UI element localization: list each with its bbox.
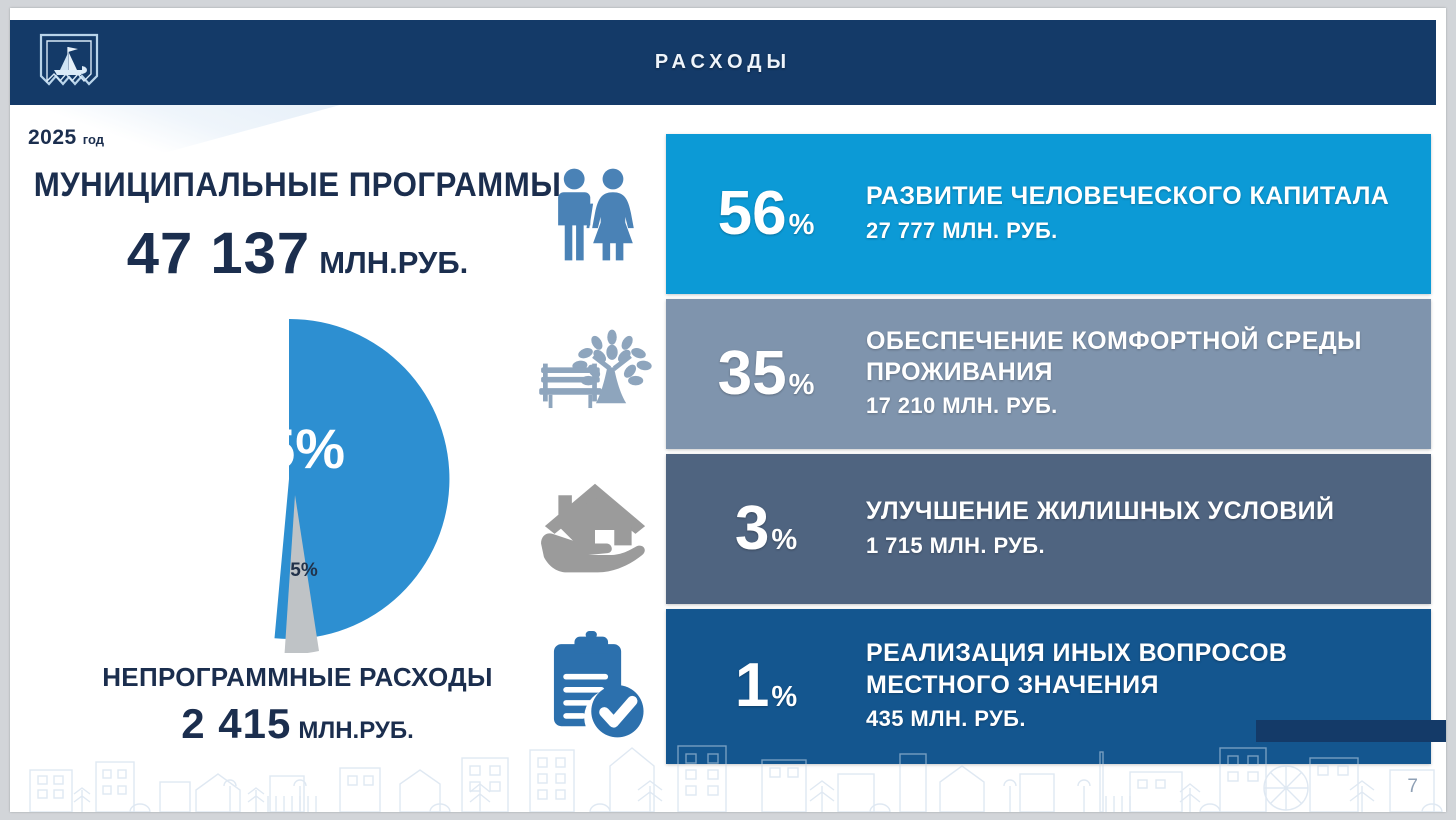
breakdown-bar-human-capital[interactable]: 56% РАЗВИТИЕ ЧЕЛОВЕЧЕСКОГО КАПИТАЛА 27 7…	[666, 134, 1431, 294]
house-in-hand-icon	[522, 454, 667, 604]
municipal-programs-value: 47 137	[127, 221, 310, 286]
bar-percent: 1%	[666, 657, 866, 716]
bar-text: ОБЕСПЕЧЕНИЕ КОМФОРТНОЙ СРЕДЫ ПРОЖИВАНИЯ …	[866, 326, 1431, 422]
bar-percent-symbol: %	[789, 369, 815, 402]
bar-text: УЛУЧШЕНИЕ ЖИЛИШНЫХ УСЛОВИЙ 1 715 МЛН. РУ…	[866, 496, 1431, 561]
municipal-programs-amount: 47 137МЛН.РУБ.	[10, 220, 585, 287]
year-label: 2025 год	[28, 126, 104, 150]
bar-percent-symbol: %	[771, 681, 797, 714]
bar-percent-symbol: %	[771, 524, 797, 557]
page-number: 7	[1407, 776, 1418, 798]
slide-canvas: РАСХОДЫ 2025 год МУНИЦИПАЛЬНЫЕ ПРОГРАММЫ…	[10, 8, 1446, 812]
bar-label-line1: УЛУЧШЕНИЕ ЖИЛИШНЫХ УСЛОВИЙ	[866, 496, 1419, 527]
bar-percent: 35%	[666, 345, 866, 404]
bar-amount: 27 777 МЛН. РУБ.	[866, 216, 1419, 247]
page-title: РАСХОДЫ	[10, 20, 1436, 105]
year-word: год	[83, 132, 104, 147]
bar-text: РАЗВИТИЕ ЧЕЛОВЕЧЕСКОГО КАПИТАЛА 27 777 М…	[866, 181, 1431, 246]
man-and-woman-people-icon	[522, 134, 667, 294]
nonprogram-expenses-title: НЕПРОГРАММНЫЕ РАСХОДЫ	[10, 662, 585, 693]
bar-percent-number: 35	[718, 345, 787, 404]
footer-accent-strip	[1256, 720, 1446, 742]
park-bench-and-tree-icon	[522, 299, 667, 449]
breakdown-bar-comfort-environment[interactable]: 35% ОБЕСПЕЧЕНИЕ КОМФОРТНОЙ СРЕДЫ ПРОЖИВА…	[666, 299, 1431, 449]
pie-svg	[118, 308, 478, 653]
nonprogram-value: 2 415	[181, 700, 291, 747]
municipal-programs-title: МУНИЦИПАЛЬНЫЕ ПРОГРАММЫ	[33, 166, 562, 205]
bar-amount: 17 210 МЛН. РУБ.	[866, 391, 1419, 422]
bar-percent: 3%	[666, 500, 866, 559]
municipal-programs-unit: МЛН.РУБ.	[319, 245, 468, 280]
bar-percent-number: 1	[735, 657, 769, 716]
bar-percent: 56%	[666, 185, 866, 244]
bar-percent-symbol: %	[789, 209, 815, 242]
nonprogram-expenses-amount: 2 415МЛН.РУБ.	[10, 700, 585, 748]
slide-header: РАСХОДЫ	[10, 20, 1436, 105]
bar-label-line1: РАЗВИТИЕ ЧЕЛОВЕЧЕСКОГО КАПИТАЛА	[866, 181, 1419, 212]
nonprogram-unit: МЛН.РУБ.	[298, 717, 413, 744]
bar-percent-number: 56	[718, 185, 787, 244]
bar-label-line1: РЕАЛИЗАЦИЯ ИНЫХ ВОПРОСОВ	[866, 638, 1419, 669]
bar-label-line2: МЕСТНОГО ЗНАЧЕНИЯ	[866, 670, 1419, 701]
clipboard-check-icon	[522, 609, 667, 764]
bar-amount: 1 715 МЛН. РУБ.	[866, 531, 1419, 562]
bar-label-line1: ОБЕСПЕЧЕНИЕ КОМФОРТНОЙ СРЕДЫ ПРОЖИВАНИЯ	[866, 326, 1419, 389]
breakdown-bar-housing[interactable]: 3% УЛУЧШЕНИЕ ЖИЛИШНЫХ УСЛОВИЙ 1 715 МЛН.…	[666, 454, 1431, 604]
year-number: 2025	[28, 126, 77, 150]
expenses-pie-chart: 95% 5%	[118, 308, 478, 653]
bar-percent-number: 3	[735, 500, 769, 559]
